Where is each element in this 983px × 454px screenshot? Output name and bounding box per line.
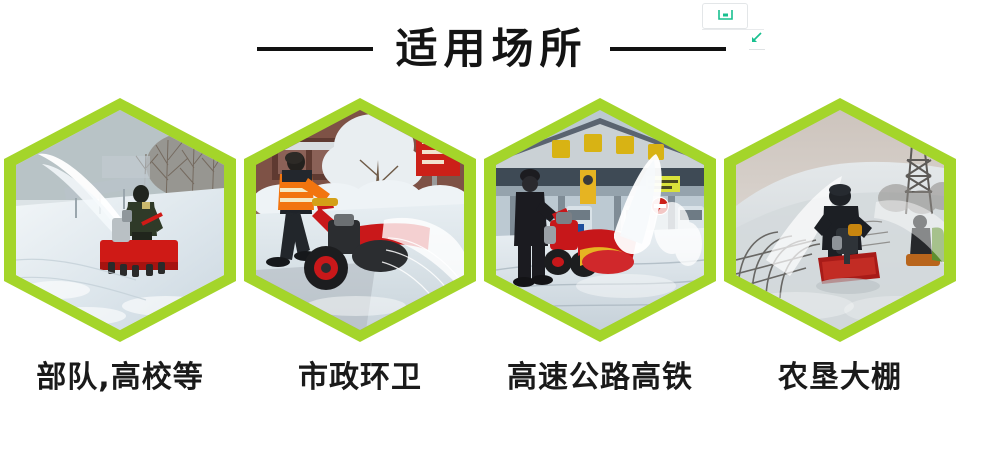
image-frame-icon[interactable] (718, 9, 733, 24)
photo-sanitation-sweeper (256, 110, 464, 330)
hex-photo-mask (736, 110, 944, 330)
title-row: 适用场所 (257, 28, 725, 70)
hex-photo-mask (16, 110, 224, 330)
scene-caption: 农垦大棚 (720, 352, 960, 414)
scene-card[interactable] (480, 98, 720, 342)
photo-soldier-snowblower (16, 110, 224, 330)
scene-card[interactable] (0, 98, 240, 342)
page-header: 适用场所 (0, 0, 983, 92)
scene-caption: 市政环卫 (240, 352, 480, 414)
resize-underline (749, 49, 765, 50)
hex-frame (4, 98, 236, 342)
toolbar-divider (702, 29, 764, 30)
title-rule-right (610, 47, 726, 51)
hex-frame (724, 98, 956, 342)
scene-card[interactable] (240, 98, 480, 342)
image-toolbar[interactable] (702, 3, 748, 29)
photo-greenhouse-snow-clearing (736, 110, 944, 330)
page-title: 适用场所 (395, 28, 587, 70)
hex-frame (244, 98, 476, 342)
scene-card[interactable] (720, 98, 960, 342)
caption-row: 部队,高校等 市政环卫 高速公路高铁 农垦大棚 (0, 352, 983, 414)
scene-caption: 高速公路高铁 (480, 352, 720, 414)
scene-caption: 部队,高校等 (0, 352, 240, 414)
photo-toll-station-snowblower (496, 110, 704, 330)
hex-photo-mask (256, 110, 464, 330)
resize-handle[interactable] (745, 31, 767, 51)
title-rule-left (257, 47, 373, 51)
hex-photo-mask (496, 110, 704, 330)
scene-card-row (0, 98, 983, 348)
resize-arrow-icon[interactable] (750, 31, 763, 47)
hex-frame (484, 98, 716, 342)
